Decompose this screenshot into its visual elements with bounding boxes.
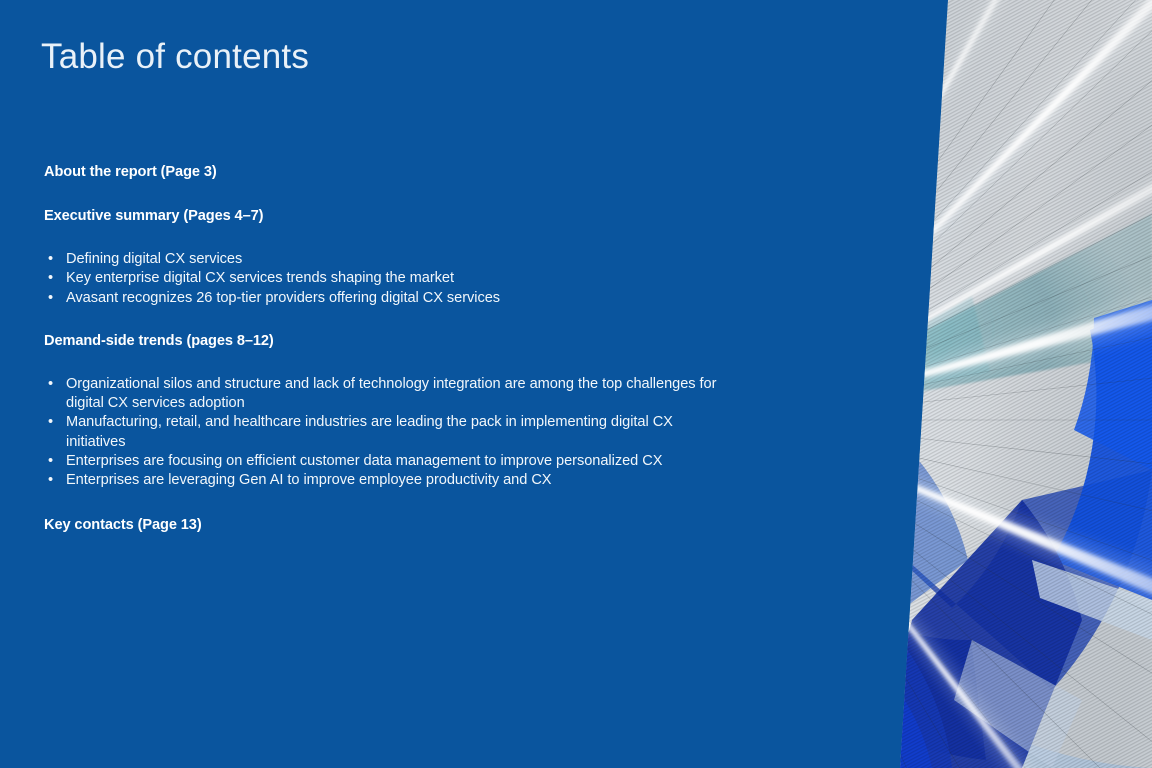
list-item-label: Enterprises are leveraging Gen AI to imp… bbox=[66, 472, 552, 488]
list-item: • Organizational silos and structure and… bbox=[44, 375, 719, 414]
spacer bbox=[44, 182, 719, 207]
list-item-label: Manufacturing, retail, and healthcare in… bbox=[66, 414, 673, 449]
bullet-icon: • bbox=[48, 269, 53, 288]
list-item: • Key enterprise digital CX services tre… bbox=[44, 269, 719, 288]
toc-section-key-contacts: Key contacts (Page 13) bbox=[44, 516, 719, 535]
slide-root: Table of contents About the report (Page… bbox=[0, 0, 1152, 768]
list-item: • Defining digital CX services bbox=[44, 250, 719, 269]
toc-heading-demand-side-trends[interactable]: Demand-side trends (pages 8–12) bbox=[44, 332, 719, 351]
bullet-icon: • bbox=[48, 471, 53, 490]
content-column: Table of contents About the report (Page… bbox=[0, 0, 730, 768]
toc-section-about-the-report: About the report (Page 3) bbox=[44, 163, 719, 182]
list-item-label: Key enterprise digital CX services trend… bbox=[66, 270, 454, 286]
bullet-icon: • bbox=[48, 250, 53, 269]
toc-section-demand-side-trends: Demand-side trends (pages 8–12) • Organi… bbox=[44, 332, 719, 491]
toc-bullets-demand-side-trends: • Organizational silos and structure and… bbox=[44, 375, 719, 491]
artwork-layers bbox=[722, 0, 1152, 768]
bullet-icon: • bbox=[48, 452, 53, 471]
list-item-label: Enterprises are focusing on efficient cu… bbox=[66, 453, 662, 469]
bullet-icon: • bbox=[48, 413, 53, 432]
spacer bbox=[44, 491, 719, 516]
list-item-label: Organizational silos and structure and l… bbox=[66, 376, 716, 411]
toc-section-executive-summary: Executive summary (Pages 4–7) • Defining… bbox=[44, 207, 719, 308]
spacer bbox=[44, 351, 719, 375]
radial-burst-svg bbox=[722, 0, 1152, 768]
page-title: Table of contents bbox=[41, 38, 309, 77]
list-item-label: Avasant recognizes 26 top-tier providers… bbox=[66, 290, 500, 306]
decorative-artwork bbox=[722, 0, 1152, 768]
spacer bbox=[44, 308, 719, 332]
list-item: • Avasant recognizes 26 top-tier provide… bbox=[44, 289, 719, 308]
list-item: • Enterprises are leveraging Gen AI to i… bbox=[44, 471, 719, 490]
table-of-contents: About the report (Page 3) Executive summ… bbox=[44, 163, 719, 535]
list-item: • Enterprises are focusing on efficient … bbox=[44, 452, 719, 471]
toc-heading-executive-summary[interactable]: Executive summary (Pages 4–7) bbox=[44, 207, 719, 226]
bullet-icon: • bbox=[48, 375, 53, 394]
list-item-label: Defining digital CX services bbox=[66, 251, 242, 267]
list-item: • Manufacturing, retail, and healthcare … bbox=[44, 413, 719, 452]
spacer bbox=[44, 226, 719, 250]
toc-heading-key-contacts[interactable]: Key contacts (Page 13) bbox=[44, 516, 719, 535]
bullet-icon: • bbox=[48, 289, 53, 308]
toc-bullets-executive-summary: • Defining digital CX services • Key ent… bbox=[44, 250, 719, 308]
toc-heading-about-the-report[interactable]: About the report (Page 3) bbox=[44, 163, 719, 182]
